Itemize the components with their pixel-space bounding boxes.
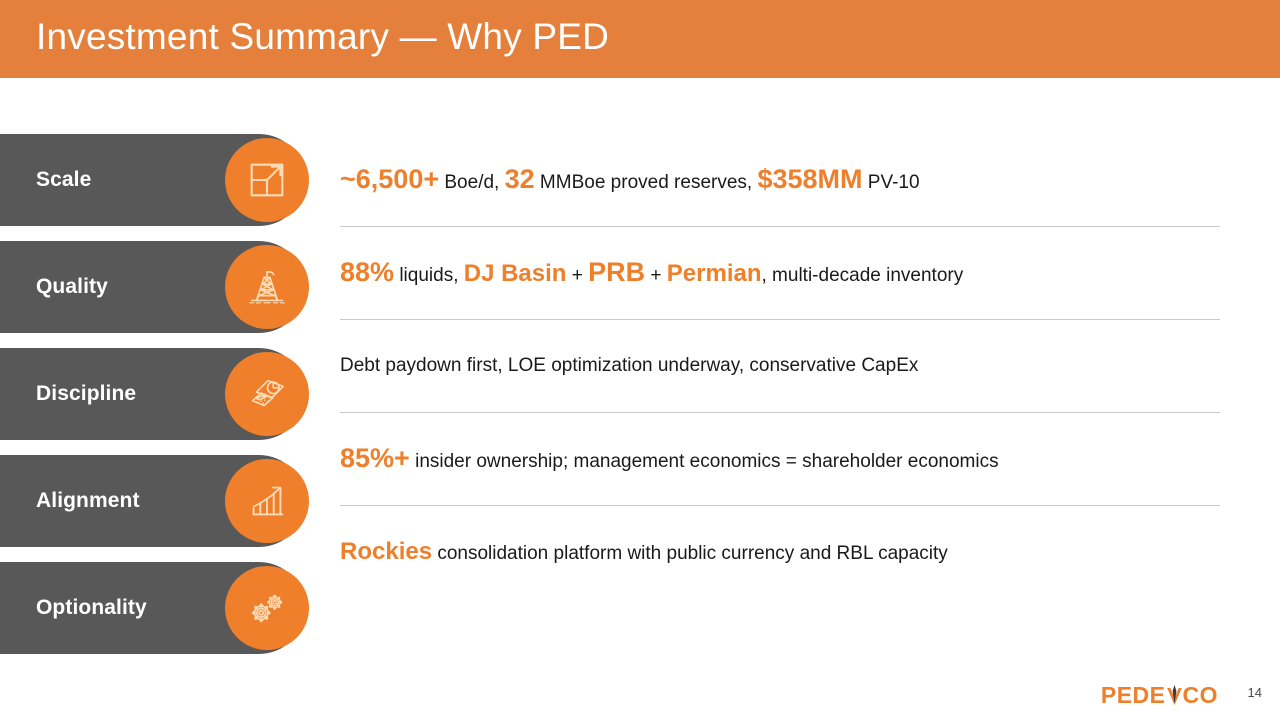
report-calculator-icon <box>225 352 309 436</box>
oil-derrick-icon <box>225 245 309 329</box>
highlight-text: $358MM <box>757 164 862 194</box>
category-pill-label: Scale <box>36 168 91 192</box>
summary-row-text: Debt paydown first, LOE optimization und… <box>340 354 918 378</box>
body-text: + <box>566 265 588 286</box>
body-text: , multi-decade inventory <box>762 265 964 286</box>
body-text: + <box>645 265 667 286</box>
summary-row-optionality: Rockies consolidation platform with publ… <box>340 505 1220 598</box>
summary-row-text: Rockies consolidation platform with publ… <box>340 537 948 567</box>
logo-text-part1: PEDE <box>1101 682 1166 709</box>
category-pill-list: Scale Quality <box>0 134 308 669</box>
body-text: MMBoe proved reserves, <box>535 172 758 193</box>
category-pill-label: Alignment <box>36 489 140 513</box>
category-pill-scale[interactable]: Scale <box>0 134 305 226</box>
summary-row-text: 88% liquids, DJ Basin + PRB + Permian, m… <box>340 256 963 290</box>
gears-icon <box>225 566 309 650</box>
summary-row-alignment: 85%+ insider ownership; management econo… <box>340 412 1220 505</box>
body-text: liquids, <box>394 265 464 286</box>
growth-bar-chart-icon <box>225 459 309 543</box>
body-text: PV-10 <box>863 172 920 193</box>
highlight-text: Rockies <box>340 538 432 565</box>
category-pill-label: Optionality <box>36 596 147 620</box>
highlight-text: 85%+ <box>340 443 410 473</box>
body-text: consolidation platform with public curre… <box>432 543 948 564</box>
summary-row-scale: ~6,500+ Boe/d, 32 MMBoe proved reserves,… <box>340 134 1220 226</box>
category-pill-optionality[interactable]: Optionality <box>0 562 305 654</box>
category-pill-label: Discipline <box>36 382 136 406</box>
summary-row-text: ~6,500+ Boe/d, 32 MMBoe proved reserves,… <box>340 163 920 197</box>
highlight-text: 32 <box>505 164 535 194</box>
body-text: insider ownership; management economics … <box>410 451 999 472</box>
logo-derrick-v-icon <box>1166 684 1183 707</box>
body-text: Debt paydown first, LOE optimization und… <box>340 355 918 376</box>
expand-arrow-icon <box>225 138 309 222</box>
highlight-text: DJ Basin <box>464 260 567 287</box>
highlight-text: Permian <box>667 260 762 287</box>
page-title: Investment Summary — Why PED <box>36 16 609 58</box>
summary-row-text: 85%+ insider ownership; management econo… <box>340 442 999 476</box>
category-pill-quality[interactable]: Quality <box>0 241 305 333</box>
pedevco-logo: PEDE CO <box>1101 682 1218 708</box>
summary-row-discipline: Debt paydown first, LOE optimization und… <box>340 319 1220 412</box>
category-pill-label: Quality <box>36 275 108 299</box>
summary-row-list: ~6,500+ Boe/d, 32 MMBoe proved reserves,… <box>340 134 1220 598</box>
body-text: Boe/d, <box>439 172 505 193</box>
page-number: 14 <box>1248 685 1262 700</box>
highlight-text: PRB <box>588 257 645 287</box>
slide-header-band: Investment Summary — Why PED <box>0 0 1280 78</box>
highlight-text: 88% <box>340 257 394 287</box>
category-pill-alignment[interactable]: Alignment <box>0 455 305 547</box>
summary-row-quality: 88% liquids, DJ Basin + PRB + Permian, m… <box>340 226 1220 319</box>
logo-text-part2: CO <box>1183 682 1219 709</box>
highlight-text: ~6,500+ <box>340 164 439 194</box>
category-pill-discipline[interactable]: Discipline <box>0 348 305 440</box>
